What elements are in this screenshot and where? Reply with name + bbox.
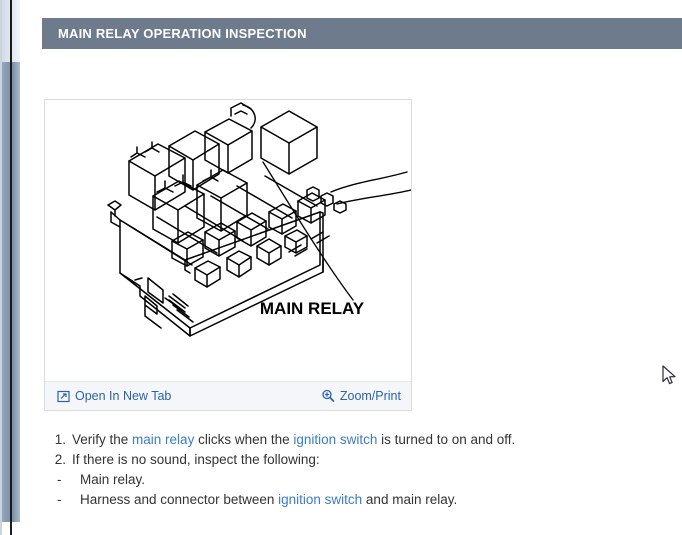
main-relay-link[interactable]: main relay: [132, 432, 194, 447]
open-in-new-tab-label: Open In New Tab: [75, 389, 171, 403]
step-text-segment: Verify the: [72, 432, 132, 447]
list-item-text: If there is no sound, inspect the follow…: [72, 450, 320, 470]
step-text-segment: clicks when the: [194, 432, 293, 447]
list-item-text: Verify the main relay clicks when the ig…: [72, 430, 515, 450]
step-text-segment: Harness and connector between: [80, 492, 278, 507]
list-item: - Main relay.: [44, 470, 672, 490]
inspection-steps-list: 1. Verify the main relay clicks when the…: [44, 430, 672, 510]
vertical-scrollbar[interactable]: [0, 0, 22, 535]
scrollbar-outer-edge: [0, 0, 2, 535]
open-in-new-tab-link[interactable]: Open In New Tab: [57, 389, 171, 403]
zoom-print-link[interactable]: Zoom/Print: [321, 389, 401, 403]
list-marker: -: [44, 470, 80, 490]
figure-callout-label: MAIN RELAY: [260, 299, 365, 318]
figure-panel: MAIN RELAY Open In New Tab: [44, 99, 412, 411]
list-marker: 2.: [44, 450, 72, 470]
zoom-print-label: Zoom/Print: [340, 389, 401, 403]
list-marker: -: [44, 490, 80, 510]
list-item: - Harness and connector between ignition…: [44, 490, 672, 510]
page-title: MAIN RELAY OPERATION INSPECTION: [42, 26, 307, 41]
list-item-text: Main relay.: [80, 470, 145, 490]
list-item: 2. If there is no sound, inspect the fol…: [44, 450, 672, 470]
list-marker: 1.: [44, 430, 72, 450]
scrollbar-divider: [10, 0, 12, 535]
document-content: MAIN RELAY OPERATION INSPECTION: [22, 0, 682, 535]
step-text-segment: is turned to on and off.: [377, 432, 515, 447]
step-text-segment: and main relay.: [362, 492, 457, 507]
figure-image[interactable]: MAIN RELAY: [45, 100, 411, 382]
open-in-new-tab-icon: [57, 390, 70, 403]
relay-box-diagram: MAIN RELAY: [45, 100, 411, 382]
list-item-text: Harness and connector between ignition s…: [80, 490, 457, 510]
ignition-switch-link[interactable]: ignition switch: [293, 432, 377, 447]
figure-footer-toolbar: Open In New Tab Zoom/Print: [45, 381, 411, 410]
list-item: 1. Verify the main relay clicks when the…: [44, 430, 672, 450]
ignition-switch-link[interactable]: ignition switch: [278, 492, 362, 507]
section-header-bar: MAIN RELAY OPERATION INSPECTION: [42, 18, 682, 49]
magnifier-plus-icon: [321, 389, 335, 403]
